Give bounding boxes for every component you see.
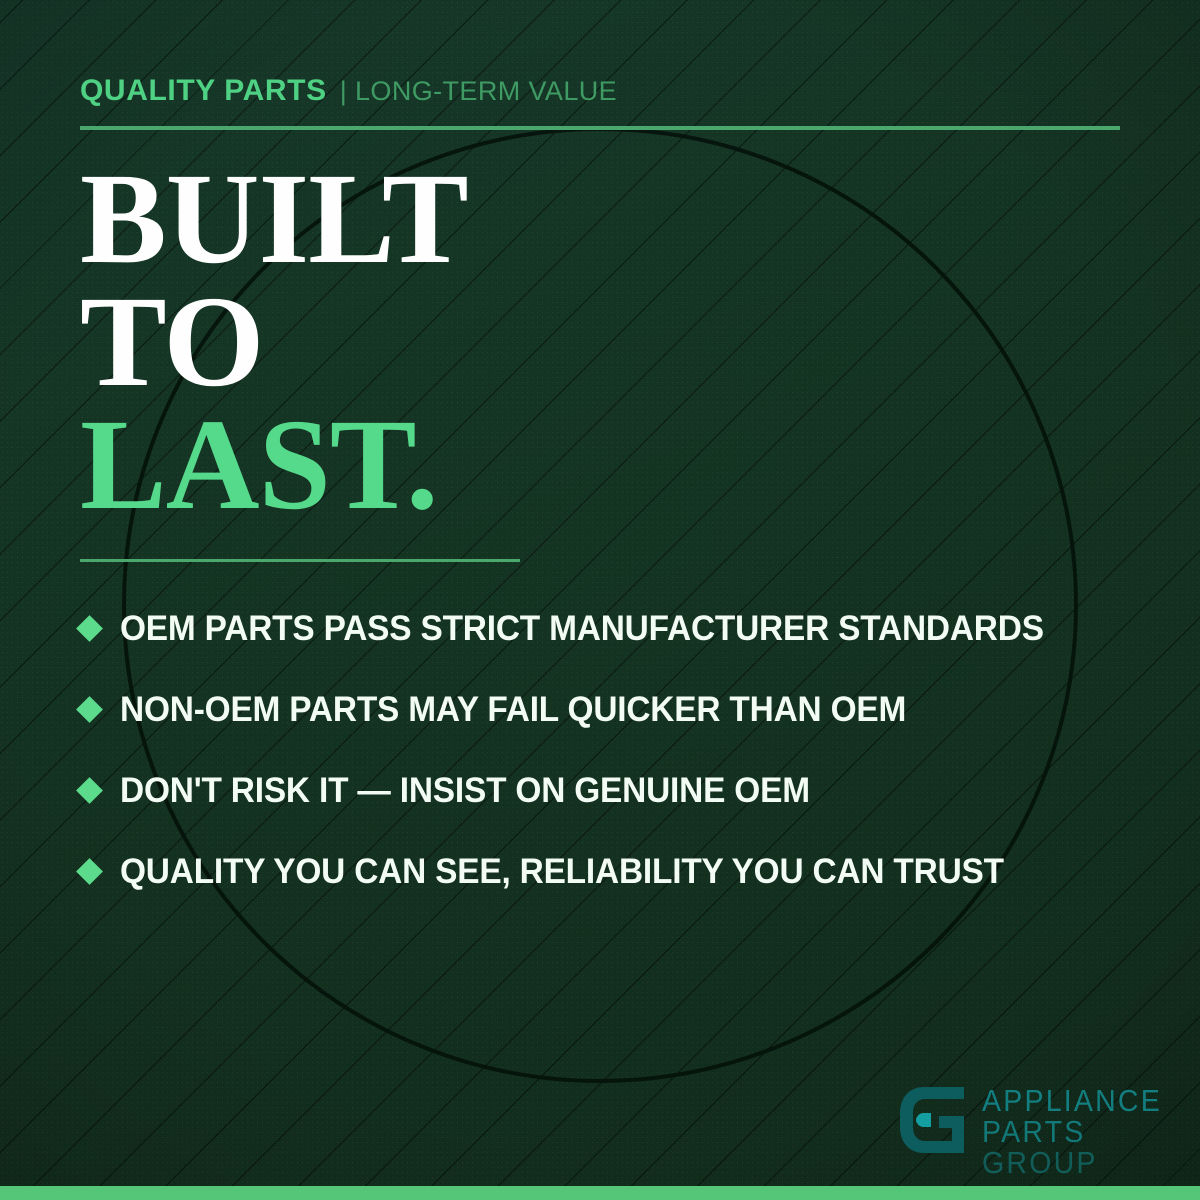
brand-logo: APPLIANCE PARTS GROUP — [894, 1080, 1178, 1178]
benefit-list: OEM PARTS PASS STRICT MANUFACTURER STAND… — [80, 588, 1150, 912]
headline: BUILT TO LAST. — [80, 158, 468, 527]
diamond-marker-icon — [76, 858, 103, 885]
headline-line-1: BUILT — [80, 158, 468, 281]
headline-line-2: TO — [80, 281, 468, 404]
poster-content: QUALITY PARTS | LONG-TERM VALUE BUILT TO… — [0, 0, 1200, 1200]
list-item-label: QUALITY YOU CAN SEE, RELIABILITY YOU CAN… — [120, 852, 1004, 892]
mid-divider-rule — [80, 559, 520, 562]
list-item-label: OEM PARTS PASS STRICT MANUFACTURER STAND… — [120, 609, 1044, 649]
eyebrow-strong-text: QUALITY PARTS — [80, 74, 327, 108]
list-item: NON-OEM PARTS MAY FAIL QUICKER THAN OEM — [80, 669, 1150, 750]
top-divider-rule — [80, 126, 1120, 130]
list-item-label: DON'T RISK IT — INSIST ON GENUINE OEM — [120, 771, 810, 811]
brand-word-3: GROUP — [982, 1147, 1162, 1178]
list-item-label: NON-OEM PARTS MAY FAIL QUICKER THAN OEM — [120, 690, 906, 730]
eyebrow: QUALITY PARTS | LONG-TERM VALUE — [80, 74, 617, 108]
diamond-marker-icon — [76, 696, 103, 723]
brand-word-2: PARTS — [982, 1116, 1162, 1147]
list-item: DON'T RISK IT — INSIST ON GENUINE OEM — [80, 750, 1150, 831]
list-item: OEM PARTS PASS STRICT MANUFACTURER STAND… — [80, 588, 1150, 669]
brand-word-1: APPLIANCE — [982, 1085, 1162, 1116]
g-monogram-icon — [894, 1080, 968, 1160]
brand-wordmark: APPLIANCE PARTS GROUP — [982, 1080, 1178, 1178]
diamond-marker-icon — [76, 615, 103, 642]
eyebrow-muted-text: | LONG-TERM VALUE — [340, 76, 617, 107]
poster-canvas: QUALITY PARTS | LONG-TERM VALUE BUILT TO… — [0, 0, 1200, 1200]
headline-line-3: LAST. — [80, 404, 468, 527]
diamond-marker-icon — [76, 777, 103, 804]
list-item: QUALITY YOU CAN SEE, RELIABILITY YOU CAN… — [80, 831, 1150, 912]
bottom-accent-bar — [0, 1186, 1200, 1200]
